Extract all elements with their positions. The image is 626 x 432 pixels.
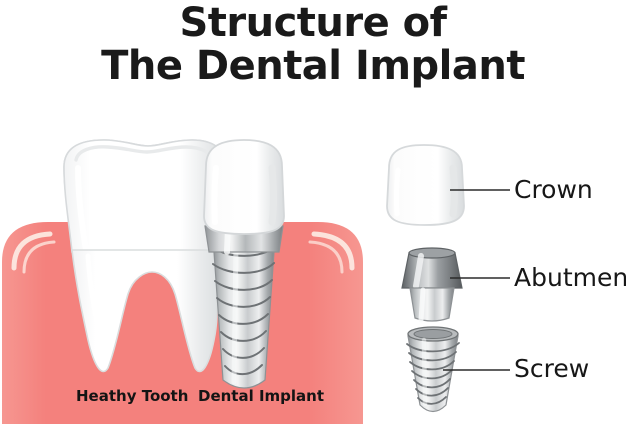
label-screw: Screw (514, 354, 589, 383)
exploded-abutment (402, 248, 462, 321)
implant-screw-in-gum (212, 238, 276, 388)
caption-dental-implant: Dental Implant (198, 387, 324, 405)
healthy-tooth-crown-shape (64, 140, 226, 252)
exploded-crown-shadow (453, 168, 455, 214)
abutment-post-highlight (421, 290, 423, 320)
implant-screw-body (213, 238, 275, 388)
implant-screw-highlight (234, 244, 236, 382)
caption-healthy-tooth: Heathy Tooth (76, 387, 188, 405)
implant-crown-shadow (272, 168, 274, 222)
illustration-canvas: Structure of The Dental Implant (0, 0, 626, 432)
abutment-post (410, 288, 454, 321)
label-abutment: Abutment (514, 263, 626, 292)
implant-crown-highlight (214, 168, 216, 222)
exploded-crown-highlight (396, 170, 398, 214)
label-crown: Crown (514, 175, 593, 204)
exploded-crown (387, 145, 464, 225)
abutment-top-face (409, 248, 455, 258)
gum-figure (2, 140, 363, 424)
screw-head-inner (414, 330, 452, 339)
screw-highlight (424, 340, 425, 404)
healthy-tooth-crown-overlay (64, 140, 226, 252)
